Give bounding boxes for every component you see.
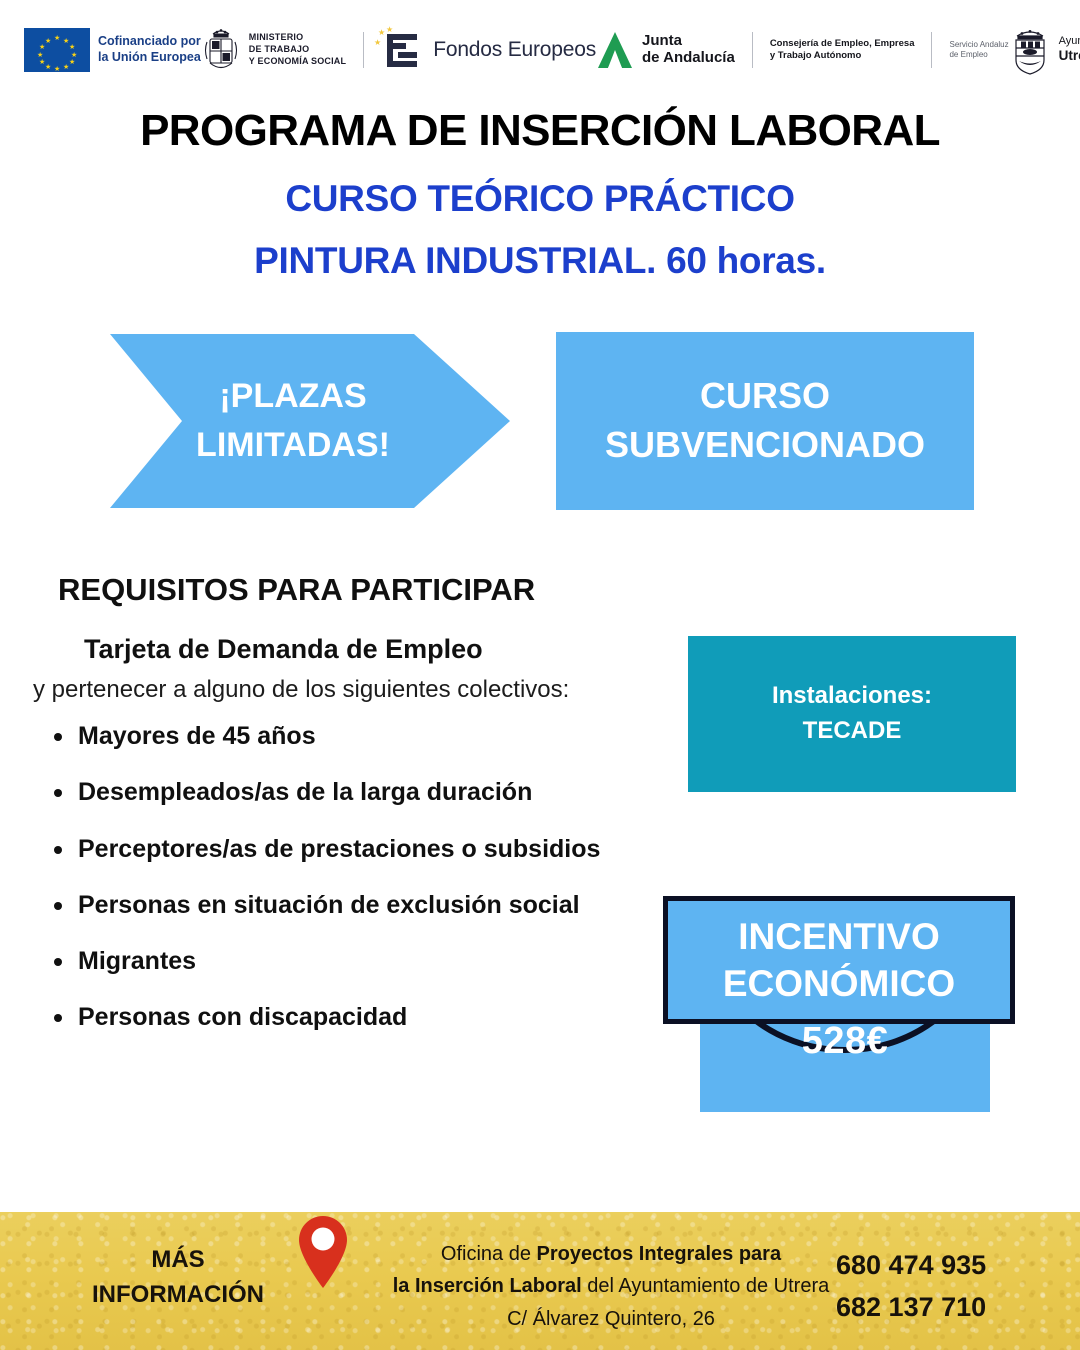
requirement-employment-card: Tarjeta de Demanda de Empleo <box>84 634 483 665</box>
requirements-heading: REQUISITOS PARA PARTICIPAR <box>58 572 535 608</box>
address-line1-bold: Proyectos Integrales para <box>537 1243 782 1265</box>
list-item: Personas con discapacidad <box>78 999 678 1036</box>
list-item: Migrantes <box>78 943 678 980</box>
servicio-andaluz-empleo-label: Servicio Andaluz de Empleo <box>949 40 1008 61</box>
logo-divider <box>931 32 932 68</box>
spain-coat-of-arms-icon <box>201 24 241 76</box>
svg-text:★: ★ <box>386 26 393 34</box>
more-info-line2: INFORMACIÓN <box>92 1281 264 1308</box>
subsidized-line2: SUBVENCIONADO <box>605 421 925 470</box>
phone-number-1[interactable]: 680 474 935 <box>836 1245 1056 1287</box>
ayuntamiento-utrera-label: Ayuntamiento Utrera <box>1059 35 1080 66</box>
logo-junta-andalucia: Junta de Andalucía Consejería de Empleo,… <box>596 30 1009 70</box>
logo-ministerio-trabajo: MINISTERIO DE TRABAJO Y ECONOMÍA SOCIAL <box>201 24 373 76</box>
map-pin-icon <box>298 1214 348 1290</box>
facility-name: TECADE <box>803 714 902 749</box>
consejeria-label: Consejería de Empleo, Empresa y Trabajo … <box>770 38 915 63</box>
junta-andalucia-label: Junta de Andalucía <box>642 33 735 67</box>
facility-label: Instalaciones: <box>772 679 932 714</box>
logo-ayuntamiento-utrera: Ayuntamiento Utrera <box>1009 23 1080 77</box>
list-item: Mayores de 45 años <box>78 718 678 755</box>
course-subtitle-line1: CURSO TEÓRICO PRÁCTICO <box>0 178 1080 220</box>
address-line2-plain: del Ayuntamiento de Utrera <box>582 1275 830 1297</box>
svg-text:★: ★ <box>378 28 385 37</box>
limited-places-line2: LIMITADAS! <box>196 421 390 470</box>
facility-box: Instalaciones: TECADE <box>688 636 1016 792</box>
address-line2-bold: la Inserción Laboral <box>393 1275 582 1297</box>
economic-incentive-group: 528€ INCENTIVO ECONÓMICO <box>650 890 1050 1120</box>
fondos-europeos-label: Fondos Europeos <box>433 38 596 62</box>
requirements-list: Mayores de 45 años Desempleados/as de la… <box>40 718 678 1056</box>
list-item: Perceptores/as de prestaciones o subsidi… <box>78 831 678 868</box>
junta-andalucia-a-icon <box>596 30 634 70</box>
svg-text:★: ★ <box>374 38 381 47</box>
address-line3: C/ Álvarez Quintero, 26 <box>507 1308 715 1330</box>
contact-phone-numbers: 680 474 935 682 137 710 <box>836 1245 1056 1329</box>
course-subtitle-line2: PINTURA INDUSTRIAL. 60 horas. <box>0 240 1080 282</box>
more-info-line1: MÁS <box>151 1246 204 1273</box>
page-title: PROGRAMA DE INSERCIÓN LABORAL <box>0 106 1080 156</box>
logo-divider <box>752 32 753 68</box>
list-item: Personas en situación de exclusión socia… <box>78 887 678 924</box>
address-line1-plain: Oficina de <box>441 1243 537 1265</box>
incentive-line1: INCENTIVO <box>738 913 939 960</box>
utrera-coat-of-arms-icon <box>1009 23 1051 77</box>
subsidized-course-banner: CURSO SUBVENCIONADO <box>556 332 974 510</box>
fondos-europeos-bars-icon: ★ ★ ★ <box>373 26 425 74</box>
more-information-label: MÁS INFORMACIÓN <box>58 1243 298 1313</box>
incentive-amount: 528€ <box>700 1020 990 1063</box>
office-address: Oficina de Proyectos Integrales para la … <box>376 1238 846 1335</box>
ministerio-label: MINISTERIO DE TRABAJO Y ECONOMÍA SOCIAL <box>249 32 346 67</box>
institutional-logo-bar: ★ ★ ★ ★ ★ ★ ★ ★ ★ ★ ★ ★ Cofinanciado por… <box>0 0 1080 100</box>
incentive-title-box: INCENTIVO ECONÓMICO <box>663 896 1015 1024</box>
logo-european-union: ★ ★ ★ ★ ★ ★ ★ ★ ★ ★ ★ ★ Cofinanciado por… <box>24 28 201 72</box>
poster-root: ★ ★ ★ ★ ★ ★ ★ ★ ★ ★ ★ ★ Cofinanciado por… <box>0 0 1080 1350</box>
limited-places-chevron-banner: ¡PLAZAS LIMITADAS! <box>110 334 510 508</box>
eu-logo-label: Cofinanciado por la Unión Europea <box>98 34 201 65</box>
logo-fondos-europeos: ★ ★ ★ Fondos Europeos <box>373 26 596 74</box>
requirements-lead-text: y pertenecer a alguno de los siguientes … <box>33 676 569 704</box>
eu-flag-icon: ★ ★ ★ ★ ★ ★ ★ ★ ★ ★ ★ ★ <box>24 28 90 72</box>
phone-number-2[interactable]: 682 137 710 <box>836 1287 1056 1329</box>
logo-divider <box>363 32 364 68</box>
incentive-line2: ECONÓMICO <box>723 960 955 1007</box>
limited-places-line1: ¡PLAZAS <box>219 372 366 421</box>
list-item: Desempleados/as de la larga duración <box>78 774 678 811</box>
subsidized-line1: CURSO <box>700 372 830 421</box>
